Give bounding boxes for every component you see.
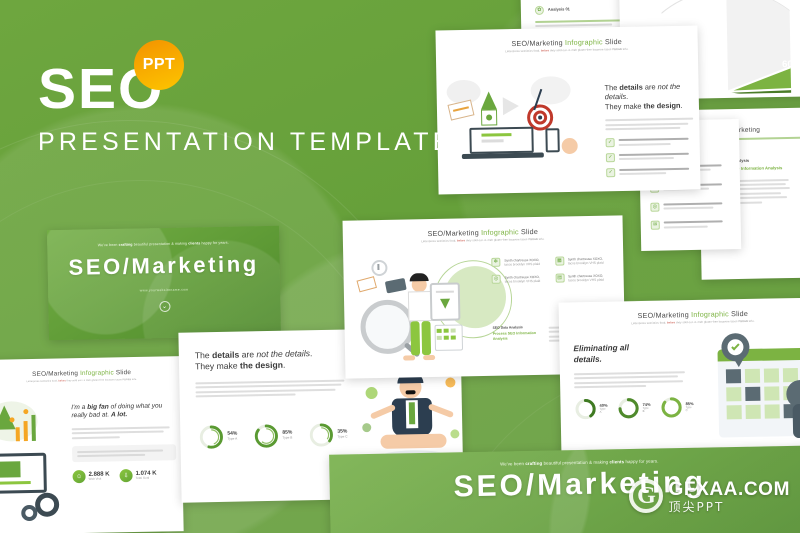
- donut-label: Type B: [282, 437, 292, 441]
- illustration-analytics-person: [355, 254, 497, 369]
- target-icon: ◎: [492, 275, 501, 284]
- eliminating-headline: Eliminating alldetails.: [573, 342, 689, 365]
- donut-label: Type C: [686, 406, 694, 412]
- hero-title: SEO/Marketing: [63, 251, 263, 281]
- stat-caption: Web Visit: [89, 478, 110, 482]
- analysis-label: Analysis 01: [548, 5, 631, 12]
- gear-icon: ✻: [491, 258, 500, 267]
- chart-icon: ▦: [555, 256, 564, 265]
- stat-item[interactable]: ☺ 2.888 K Web Visit: [72, 470, 109, 484]
- slide-header-subtitle: Letterpress semiotics food, before they …: [0, 377, 169, 383]
- feature-desc: tacos brooklyn VHS plaid: [568, 278, 612, 283]
- slide-big-fan[interactable]: SEO/Marketing Infographic Slide Letterpr…: [0, 356, 184, 533]
- feature-desc: tacos brooklyn VHS plaid: [504, 262, 548, 267]
- center-block-label: SEO Data Analysis: [493, 325, 541, 330]
- feature-desc: tacos brooklyn VHS plaid: [568, 261, 612, 266]
- download-icon: ⇩: [119, 469, 132, 482]
- details-headline: The details are not the details. They ma…: [604, 82, 697, 112]
- ppt-badge: PPT: [134, 40, 184, 90]
- stat-caption: Total Goal: [136, 477, 157, 481]
- donut-item[interactable]: 40% Type A: [574, 398, 607, 421]
- donut-chart: [617, 397, 639, 419]
- feature-item[interactable]: ✓: [606, 166, 698, 178]
- briefcase-icon: ▤: [555, 274, 564, 283]
- donuts-headline: The details are not the details. They ma…: [195, 347, 347, 372]
- donut-item[interactable]: 54% Type A: [198, 424, 238, 451]
- illustration-map-grid: [699, 331, 800, 447]
- slide-bottom-band[interactable]: We've been crafting beautiful presentati…: [329, 445, 800, 533]
- fan-headline: I'm a big fan of doing what you really b…: [71, 402, 175, 421]
- donut-chart: [253, 423, 279, 449]
- donut-item[interactable]: 74% Type B: [617, 397, 650, 420]
- feature-item[interactable]: ✉: [651, 220, 733, 231]
- slide-details-top[interactable]: SEO/Marketing Infographic Slide Letterpr…: [435, 26, 700, 195]
- hero-tagline: We've been crafting beautiful presentati…: [63, 240, 263, 248]
- chevron-down-circle-icon[interactable]: ⌄: [159, 301, 170, 312]
- check-icon: ✓: [606, 138, 615, 147]
- feature-item[interactable]: ◎ Synth chartreuse XOXO, tacos brooklyn …: [492, 274, 549, 284]
- slide-eliminating[interactable]: SEO/Marketing Infographic Slide Letterpr…: [559, 297, 800, 456]
- donut-label: Type A: [227, 438, 237, 442]
- check-icon: ✓: [606, 168, 615, 177]
- feature-item[interactable]: ✻ Synth chartreuse XOXO, tacos brooklyn …: [491, 257, 548, 267]
- donut-label: Type C: [337, 435, 347, 439]
- feature-desc: tacos brooklyn VHS plaid: [505, 279, 549, 284]
- donut-chart: [574, 398, 596, 420]
- user-icon: ☺: [72, 470, 85, 483]
- slide-hero[interactable]: We've been crafting beautiful presentati…: [47, 226, 281, 340]
- donut-label: Type A: [600, 408, 608, 414]
- mail-icon: ✉: [651, 221, 660, 230]
- feature-item[interactable]: ◎: [650, 201, 732, 212]
- donut-chart: [198, 424, 224, 450]
- check-icon: ✓: [606, 153, 615, 162]
- feature-item[interactable]: ▤ Synth chartreuse XOXO, tacos brooklyn …: [555, 273, 612, 283]
- pie-label-0: 60%: [782, 59, 791, 70]
- masthead: SEO PPT PRESENTATION TEMPLATE: [38, 62, 454, 157]
- donut-item[interactable]: 85% Type B: [253, 423, 293, 450]
- donut-label: Type B: [643, 407, 651, 413]
- illustration-seo-screen: [0, 400, 77, 522]
- feature-item[interactable]: ▦ Synth chartreuse XOXO, tacos brooklyn …: [555, 256, 612, 266]
- feature-item[interactable]: ✓: [606, 151, 698, 163]
- illustration-rocket: [444, 74, 594, 167]
- hero-subtitle: www.yourwebsitename.com: [64, 286, 264, 294]
- poster-stage: ✿ Analysis 01 ✿ Analysis 02: [0, 0, 800, 533]
- center-block-heading: Process SEO Information Analysis: [493, 331, 541, 342]
- donut-chart: [660, 396, 682, 418]
- feature-item[interactable]: ✓: [606, 137, 698, 149]
- gear-circle-icon: ✿: [535, 6, 544, 15]
- donut-chart: [308, 422, 334, 448]
- page-subtitle: PRESENTATION TEMPLATE: [38, 128, 454, 157]
- donut-item[interactable]: 85% Type C: [660, 396, 693, 419]
- donut-chart-group: 54% Type A 85% Type B: [198, 421, 348, 450]
- target-icon: ◎: [650, 202, 659, 211]
- analysis-item[interactable]: ✿ Analysis 01: [535, 4, 631, 15]
- donut-item[interactable]: 35% Type C: [308, 421, 348, 448]
- band-title: SEO/Marketing: [349, 464, 800, 507]
- stat-item[interactable]: ⇩ 1.074 K Total Goal: [119, 469, 156, 483]
